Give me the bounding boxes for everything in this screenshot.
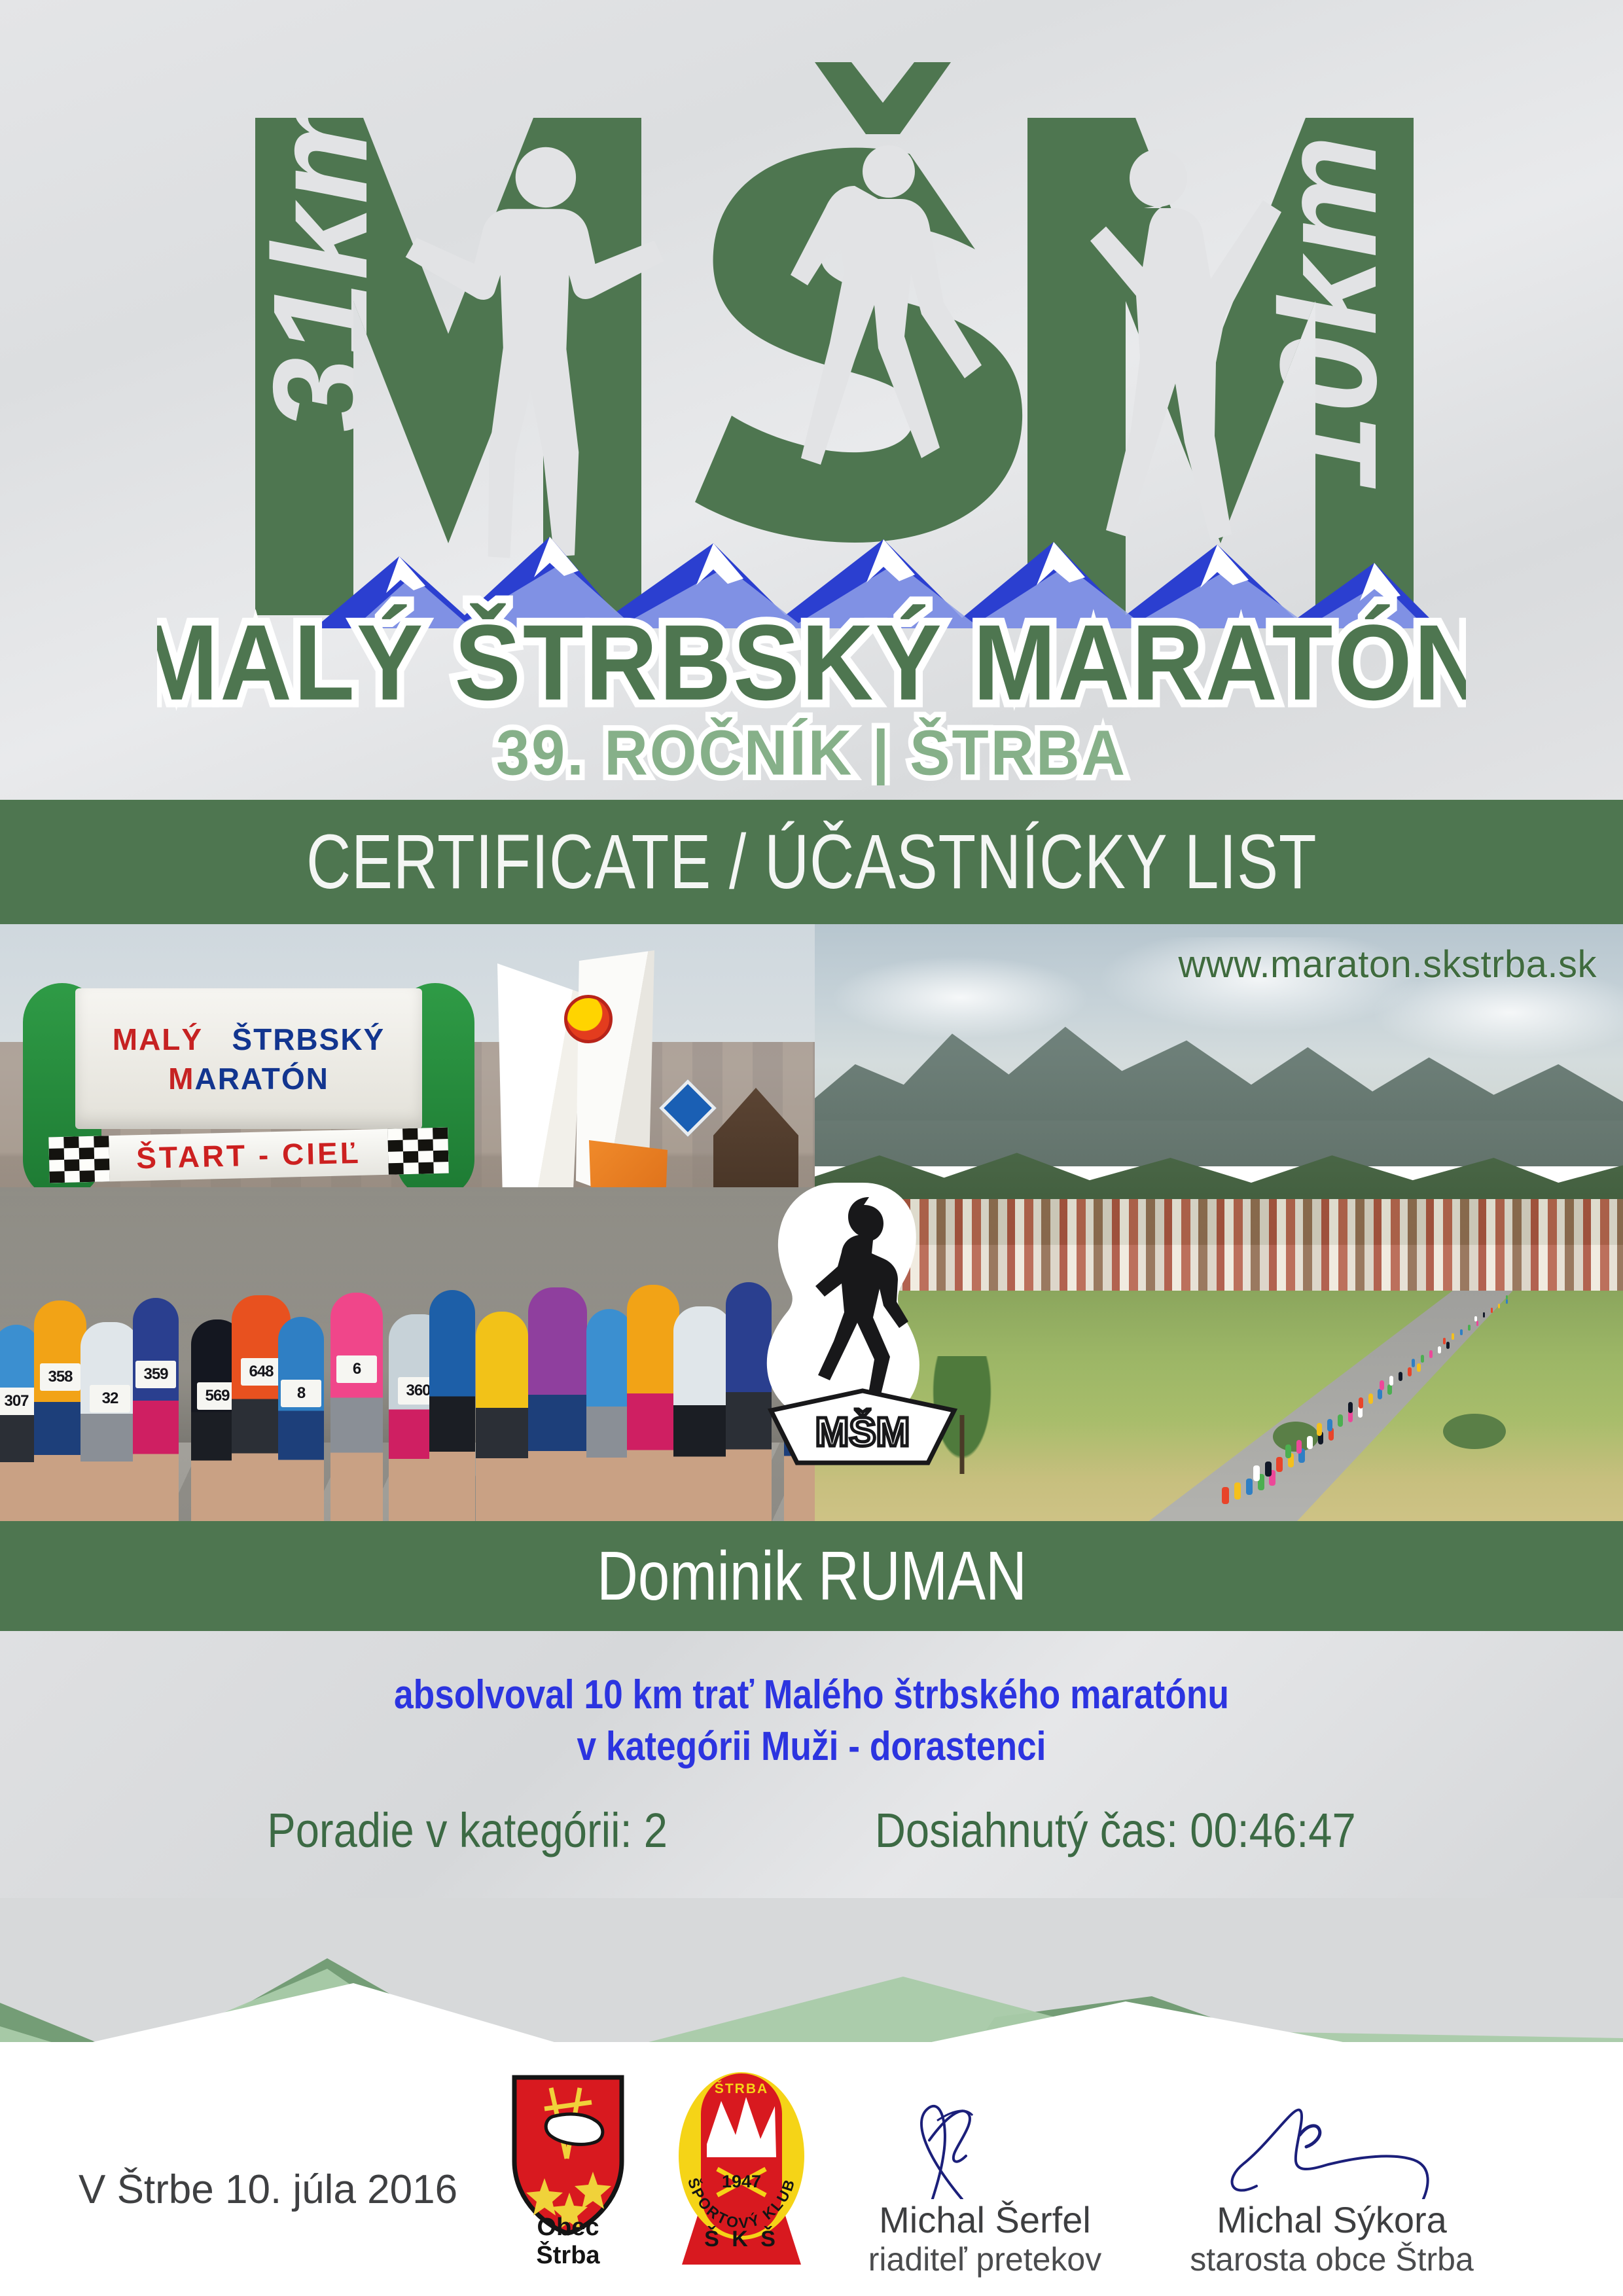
- caron-mark: [815, 62, 951, 134]
- coat-of-arms-icon: [504, 2073, 632, 2237]
- distance-left-text: 31km: [245, 84, 395, 432]
- results-area: absolvoval 10 km trať Malého štrbského m…: [0, 1631, 1623, 1912]
- distant-runner-dot: [1491, 1308, 1493, 1312]
- runner-figure: [673, 1306, 732, 1521]
- start-finish-label: ŠTART - CIEĽ: [136, 1135, 362, 1175]
- distant-runner-dot: [1417, 1363, 1421, 1372]
- distant-runner-dot: [1443, 1338, 1446, 1345]
- distant-runner-dot: [1368, 1393, 1373, 1404]
- distant-runner-dot: [1338, 1414, 1343, 1427]
- distant-runner-dot: [1234, 1482, 1241, 1499]
- arch-banner-line1: MALÝ ŠTRBSKÝ: [113, 1022, 385, 1057]
- distant-runner-dot: [1412, 1359, 1415, 1367]
- runner-bib-number: 648: [241, 1358, 281, 1386]
- checker-flag-left: [48, 1136, 110, 1183]
- signature-icon-mayor: [1178, 2101, 1486, 2199]
- distant-runner-dot: [1222, 1487, 1229, 1504]
- runner-figure: 359: [133, 1298, 179, 1521]
- distant-runner-dot: [1506, 1299, 1508, 1304]
- distant-runner-dot: [1387, 1384, 1392, 1394]
- achieved-time: Dosiahnutý čas: 00:46:47: [875, 1803, 1356, 1858]
- letter-s-caron: [695, 62, 1022, 543]
- footer: V Štrbe 10. júla 2016 Obec Štrb: [0, 2042, 1623, 2296]
- sks-year: 1947: [722, 2172, 761, 2191]
- certificate-banner-label: CERTIFICATE / ÚČASTNÍCKY LIST: [306, 823, 1317, 901]
- runner-bib-number: 358: [40, 1363, 80, 1391]
- photo-start-line: MALÝ ŠTRBSKÝ MARATÓN ŠTART - CIEĽ: [0, 924, 815, 1521]
- distant-runner-dot: [1253, 1465, 1260, 1481]
- distant-runner-dot: [1446, 1342, 1450, 1349]
- distant-runner-dot: [1327, 1419, 1332, 1431]
- runner-figure: [528, 1287, 587, 1521]
- certificate-banner: CERTIFICATE / ÚČASTNÍCKY LIST: [0, 800, 1623, 924]
- distant-runner-dot: [1265, 1462, 1272, 1477]
- sponsor-flag-badge-icon: [564, 995, 613, 1043]
- distant-runner-dot: [1421, 1355, 1424, 1363]
- arch-maly: MALÝ: [113, 1022, 203, 1056]
- distant-runner-dot: [1483, 1312, 1485, 1318]
- distant-runner-dot: [1348, 1402, 1353, 1413]
- distance-right-text: 10km: [1251, 134, 1405, 491]
- runner-figure: 358: [34, 1300, 86, 1521]
- arch-m: M: [168, 1062, 194, 1096]
- signatory-name-2: Michal Sýkora: [1178, 2199, 1486, 2241]
- runner-bib-number: 32: [90, 1385, 130, 1412]
- sks-top-label: ŠTRBA: [715, 2081, 768, 2096]
- obec-strba-emblem: Obec Štrba: [504, 2073, 632, 2270]
- distant-runner-dot: [1399, 1372, 1402, 1381]
- runner-bib-number: 359: [135, 1361, 176, 1388]
- signatory-name-1: Michal Šerfel: [831, 2199, 1139, 2241]
- distance-left-group: 31km: [245, 84, 395, 432]
- runner-figure: 8: [278, 1317, 324, 1521]
- distant-runner-dot: [1317, 1423, 1322, 1435]
- distant-runner-dot: [1389, 1376, 1393, 1386]
- start-finish-banner: ŠTART - CIEĽ: [48, 1128, 449, 1183]
- signature-block-mayor: Michal Sýkora starosta obce Štrba: [1178, 2101, 1486, 2279]
- distant-runner-dot: [1474, 1316, 1477, 1321]
- runner-bib-number: 8: [281, 1380, 321, 1407]
- runner-figure: 32: [80, 1322, 139, 1521]
- distant-runner-dot: [1460, 1329, 1463, 1336]
- sks-club-icon: 1947 ŠPORTOVÝ KLUB Š K Š ŠTRBA: [673, 2071, 810, 2267]
- distant-runner-dot: [1276, 1457, 1283, 1472]
- inflatable-start-arch: MALÝ ŠTRBSKÝ MARATÓN ŠTART - CIEĽ: [23, 983, 474, 1199]
- distant-runner-dot: [1408, 1367, 1412, 1376]
- arch-araton: ARATÓN: [194, 1062, 329, 1096]
- rank-in-category: Poradie v kategórii: 2: [267, 1803, 668, 1858]
- bush-2: [1443, 1414, 1506, 1449]
- event-subtitle: 39. ROČNÍK | ŠTRBA: [496, 717, 1127, 785]
- badge-msm-text: MŠM: [815, 1410, 910, 1455]
- distant-runner-dot: [1285, 1444, 1291, 1459]
- runner-figure: [429, 1290, 475, 1521]
- signature-block-director: Michal Šerfel riaditeľ pretekov: [831, 2101, 1139, 2279]
- msm-wordmark-svg: 31km: [157, 39, 1466, 785]
- website-url[interactable]: www.maraton.skstrba.sk: [1178, 942, 1597, 986]
- participant-description: absolvoval 10 km trať Malého štrbského m…: [114, 1669, 1510, 1773]
- runner-figure: 307: [0, 1325, 39, 1521]
- results-row: Poradie v kategórii: 2 Dosiahnutý čas: 0…: [98, 1803, 1525, 1858]
- distant-runner-dot: [1380, 1380, 1383, 1390]
- sks-initials: Š K Š: [704, 2226, 779, 2251]
- runner-figure: [627, 1285, 679, 1521]
- runner-figure: [586, 1309, 632, 1521]
- runner-figure: [476, 1312, 528, 1521]
- signature-icon-director: [831, 2101, 1139, 2199]
- distant-runner-dot: [1246, 1479, 1253, 1495]
- distant-runner-dot: [1296, 1440, 1302, 1454]
- msm-logo: 31km: [157, 39, 1466, 785]
- signatory-role-2: starosta obce Štrba: [1178, 2241, 1486, 2279]
- arch-banner: MALÝ ŠTRBSKÝ MARATÓN: [75, 988, 422, 1129]
- distant-runner-dot: [1359, 1397, 1363, 1408]
- runner-figure: 6: [330, 1293, 383, 1521]
- distant-runner-dot: [1476, 1321, 1479, 1327]
- runner-bib-number: 6: [336, 1355, 377, 1383]
- runner-crowd: 3073583235956964886360: [0, 1187, 815, 1521]
- description-line-1: absolvoval 10 km trať Malého štrbského m…: [114, 1669, 1510, 1721]
- arch-banner-line2: MARATÓN: [168, 1061, 329, 1096]
- participant-name: Dominik RUMAN: [597, 1541, 1027, 1611]
- distant-runner-dot: [1307, 1436, 1313, 1450]
- distant-runner-dot: [1498, 1304, 1500, 1308]
- distant-runner-dot: [1438, 1346, 1441, 1354]
- distant-runner-dot: [1452, 1333, 1454, 1340]
- obec-strba-caption: Obec Štrba: [504, 2214, 632, 2270]
- sks-club-emblem: 1947 ŠPORTOVÝ KLUB Š K Š ŠTRBA: [673, 2071, 810, 2267]
- event-title: MALÝ ŠTRBSKÝ MARATÓN: [157, 602, 1466, 723]
- description-line-2: v kategórii Muži - dorastenci: [114, 1721, 1510, 1772]
- issue-date: V Štrbe 10. júla 2016: [79, 2166, 457, 2213]
- distant-runner-dot: [1468, 1325, 1471, 1331]
- distant-runner-dot: [1378, 1389, 1382, 1399]
- logo-band: 31km: [0, 0, 1623, 800]
- runner-bib-number: 307: [0, 1388, 37, 1415]
- participant-name-banner: Dominik RUMAN: [0, 1521, 1623, 1631]
- msm-runner-badge-icon: MŠM: [764, 1181, 961, 1473]
- distance-right-group: 10km: [1251, 134, 1405, 491]
- sponsor-flag-1: [497, 963, 582, 1212]
- signatory-role-1: riaditeľ pretekov: [831, 2241, 1139, 2279]
- distant-runner-dot: [1506, 1295, 1508, 1299]
- distant-runner-dot: [1429, 1350, 1433, 1358]
- arch-strbsky: ŠTRBSKÝ: [232, 1022, 385, 1056]
- certificate-page: 31km: [0, 0, 1623, 2296]
- checker-flag-right: [387, 1128, 449, 1175]
